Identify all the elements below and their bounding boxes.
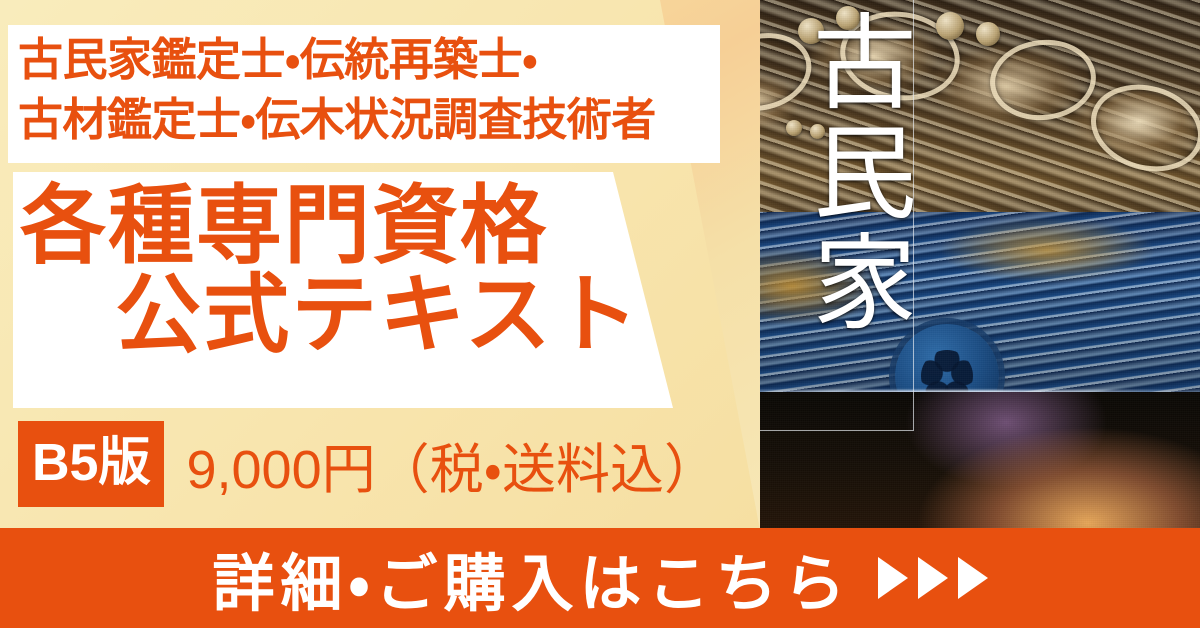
main-title: 各種専門資格 公式テキスト: [20, 182, 670, 361]
certification-heading: 古民家鑑定士・伝統再築士・ 古材鑑定士・伝木状況調査技術者: [18, 30, 718, 150]
main-title-line-1: 各種専門資格: [20, 182, 670, 271]
promo-banner: 古民家 伝統構法 古民家活用のための調査と再生の 古民家鑑定士・伝統再築士・ 古…: [0, 0, 1200, 628]
cover-title: 古民家: [798, 8, 908, 338]
book-cover-photo: 古民家 伝統構法 古民家活用のための調査と再生の: [690, 0, 1200, 530]
certification-line-1: 古民家鑑定士・伝統再築士・: [18, 30, 718, 90]
wood-bead: [976, 22, 1000, 46]
main-title-line-2: 公式テキスト: [20, 271, 670, 360]
certification-line-2: 古材鑑定士・伝木状況調査技術者: [18, 90, 718, 150]
cta-label: 詳細・ご購入はこちら: [212, 533, 851, 623]
price-label: 9,000円（税・送料込）: [186, 425, 718, 504]
wood-bead: [936, 12, 964, 40]
price-row: B5版 9,000円（税・送料込）: [18, 420, 718, 508]
format-badge: B5版: [18, 421, 164, 507]
wood-swirl-icon: [986, 35, 1100, 126]
play-arrow-icon: [918, 557, 948, 599]
cta-arrows: [878, 557, 988, 599]
wood-swirl-icon: [1081, 72, 1200, 184]
play-arrow-icon: [878, 557, 908, 599]
play-arrow-icon: [958, 557, 988, 599]
cta-button[interactable]: 詳細・ご購入はこちら: [0, 528, 1200, 628]
